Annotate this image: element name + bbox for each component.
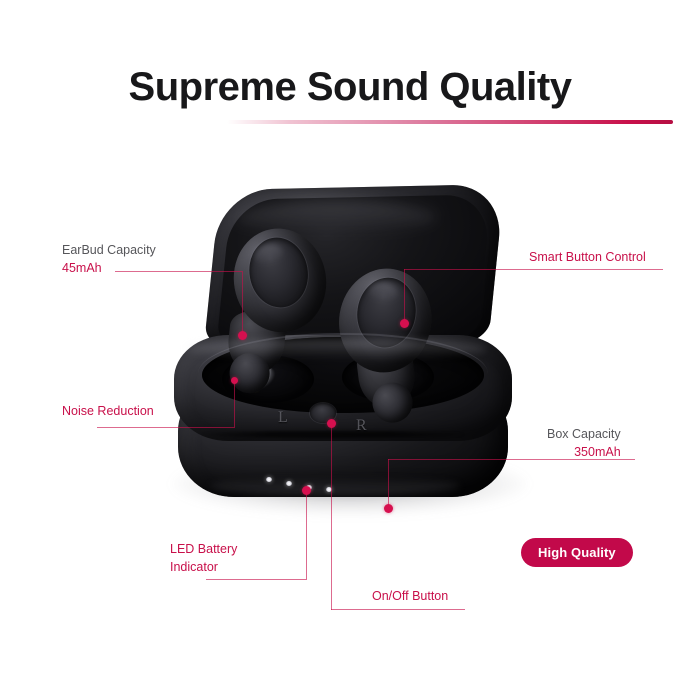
case-bottom-highlight [210,477,460,495]
callout-led-battery-title: LED Battery [170,542,237,556]
page-title: Supreme Sound Quality [0,66,700,108]
right-channel-mark: R [356,417,367,435]
callout-on-off-button-title: On/Off Button [372,589,448,603]
title-underline-accent [227,120,673,124]
hotspot-box-capacity [384,504,393,513]
infographic-canvas: Supreme Sound Quality [0,0,700,700]
callout-smart-button-control: Smart Button Control [529,248,646,266]
callout-box-capacity-value: 350mAh [574,445,621,459]
product-illustration: L R [150,185,550,530]
callout-earbud-capacity-title: EarBud Capacity [62,243,156,257]
callout-on-off-button: On/Off Button [372,587,448,605]
left-channel-mark: L [278,409,288,427]
hotspot-on-off-button [327,419,336,428]
case-seam [202,431,464,438]
callout-noise-reduction-title: Noise Reduction [62,404,154,418]
leader-line-on-off-button [331,609,465,610]
leader-line-smart-button [404,269,405,323]
callout-led-battery-value: Indicator [170,560,218,574]
callout-smart-button-control-title: Smart Button Control [529,250,646,264]
leader-line-earbud-capacity [242,271,243,335]
leader-line-led-indicator [206,579,306,580]
callout-earbud-capacity-value: 45mAh [62,261,102,275]
led-indicator-dot [286,481,292,486]
callout-noise-reduction: Noise Reduction [62,402,154,420]
callout-box-capacity-title: Box Capacity [547,427,621,441]
title-block: Supreme Sound Quality [0,66,700,108]
callout-box-capacity: Box Capacity 350mAh [547,425,621,461]
leader-line-smart-button [404,269,663,270]
leader-line-box-capacity [388,459,635,460]
hotspot-led-indicator [302,486,311,495]
led-indicator-dot [266,477,272,482]
leader-line-earbud-capacity [115,271,242,272]
hotspot-earbud-capacity [238,331,247,340]
leader-line-noise-reduction [234,383,235,428]
hotspot-smart-button [400,319,409,328]
leader-line-on-off-button [331,427,332,610]
leader-line-led-indicator [306,490,307,580]
leader-line-box-capacity [388,459,389,508]
callout-led-battery-indicator: LED Battery Indicator [170,540,237,576]
quality-badge: High Quality [521,538,633,567]
hotspot-noise-reduction [231,377,238,384]
case-rim-highlight [186,339,486,359]
leader-line-noise-reduction [97,427,234,428]
